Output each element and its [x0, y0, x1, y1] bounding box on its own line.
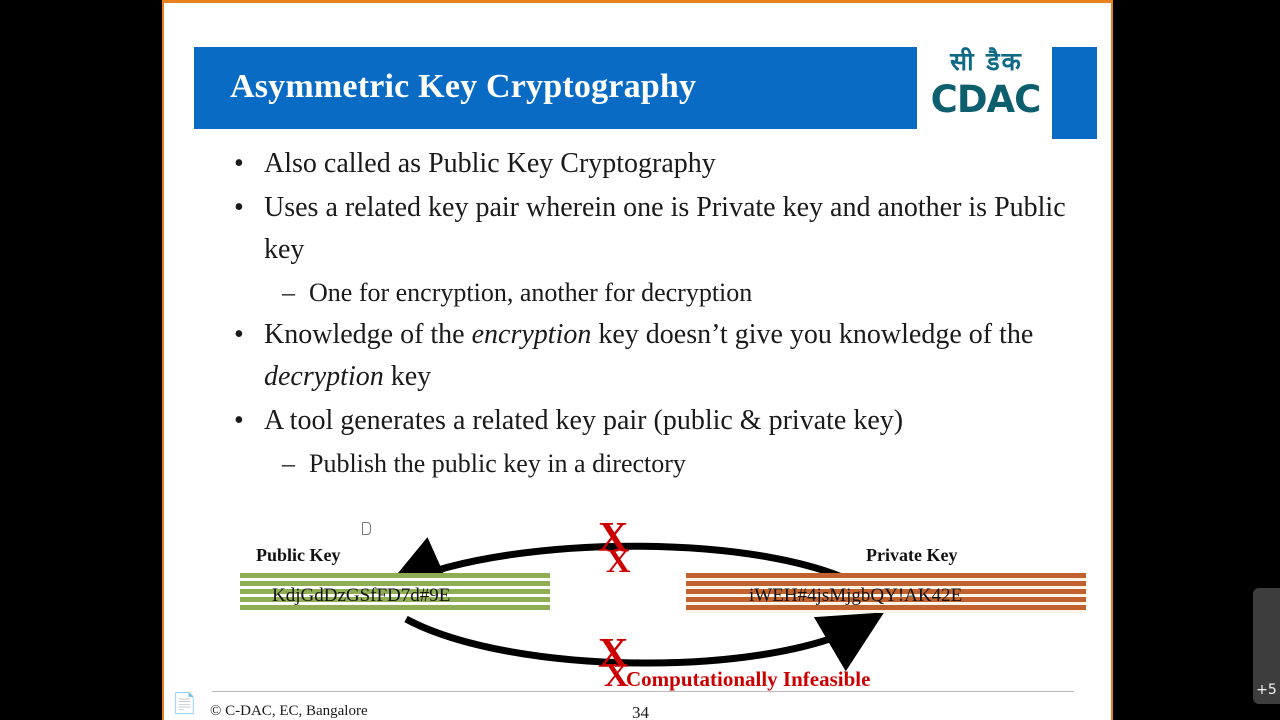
footer-divider: [212, 691, 1074, 692]
sub-bullet-item: – Publish the public key in a directory: [194, 444, 1094, 483]
private-key-value: iWEH#4jsMjgbQY!AK42E: [749, 585, 962, 607]
bullet-item: • Uses a related key pair wherein one is…: [194, 187, 1094, 271]
logo-devanagari-text: सी डैक: [921, 49, 1052, 75]
key-pair-diagram: Public Key Private Key KdjGdDzGSfFD7d#9E…: [194, 527, 1084, 687]
watermark-icon: 📄: [172, 691, 197, 715]
logo-wordmark: CDAC: [919, 81, 1052, 118]
sub-bullet-text: Publish the public key in a directory: [309, 449, 686, 478]
sub-bullet-marker: –: [282, 444, 295, 483]
bullet-text-rich: Knowledge of the encryption key doesn’t …: [264, 319, 1033, 392]
slide-body: • Also called as Public Key Cryptography…: [194, 143, 1094, 485]
sub-bullet-item: – One for encryption, another for decryp…: [194, 273, 1094, 312]
bullet-text-run: Knowledge of the: [264, 319, 472, 350]
x-mark-icon: X: [604, 659, 629, 693]
bullet-text: Also called as Public Key Cryptography: [264, 148, 716, 179]
logo-card: सी डैक CDAC: [917, 47, 1052, 139]
bullet-text-run-italic: decryption: [264, 361, 384, 392]
bullet-text: A tool generates a related key pair (pub…: [264, 405, 903, 436]
private-key-label: Private Key: [866, 545, 957, 566]
bullet-text: Uses a related key pair wherein one is P…: [264, 192, 1066, 265]
bullet-item: • Also called as Public Key Cryptography: [194, 143, 1094, 185]
participants-count-badge: +5: [1253, 682, 1280, 698]
slide-number: 34: [632, 703, 649, 720]
public-key-value: KdjGdDzGSfFD7d#9E: [272, 585, 450, 607]
sub-bullet-text: One for encryption, another for decrypti…: [309, 278, 752, 307]
bullet-marker: •: [234, 187, 244, 229]
logo-blue-tab: [1052, 47, 1097, 139]
mouse-cursor: [362, 522, 371, 535]
bullet-text-run: key: [384, 361, 431, 392]
bullet-marker: •: [234, 143, 244, 185]
bullet-item: • A tool generates a related key pair (p…: [194, 400, 1094, 442]
presentation-slide: Asymmetric Key Cryptography सी डैक CDAC …: [162, 0, 1113, 720]
page-title: Asymmetric Key Cryptography: [230, 68, 696, 106]
cdac-logo: सी डैक CDAC: [917, 47, 1097, 129]
bullet-text-run: key doesn’t give you knowledge of the: [591, 319, 1033, 350]
x-mark-icon: X: [606, 545, 631, 579]
footer-copyright: © C-DAC, EC, Bangalore: [210, 703, 368, 720]
participants-panel-handle[interactable]: +5: [1253, 588, 1280, 704]
computationally-infeasible-note: Computationally Infeasible: [626, 667, 870, 692]
slide-title-band: Asymmetric Key Cryptography: [194, 47, 922, 129]
sub-bullet-marker: –: [282, 273, 295, 312]
screen: Asymmetric Key Cryptography सी डैक CDAC …: [0, 0, 1280, 720]
bullet-marker: •: [234, 400, 244, 442]
public-key-label: Public Key: [256, 545, 341, 566]
bullet-item: • Knowledge of the encryption key doesn’…: [194, 314, 1094, 398]
bullet-text-run-italic: encryption: [472, 319, 592, 350]
bullet-marker: •: [234, 314, 244, 356]
